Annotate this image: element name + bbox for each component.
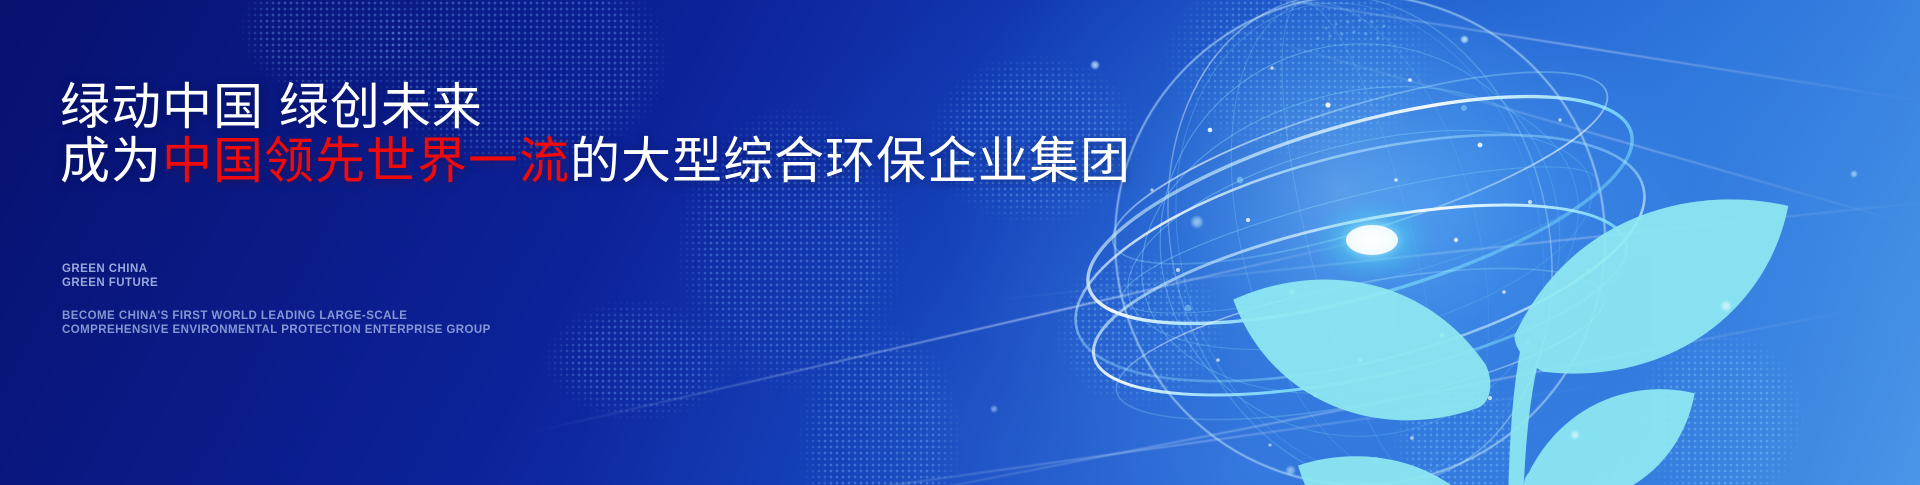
- glow-particle-icon: [1285, 465, 1296, 476]
- tagline-line-1: GREEN CHINA: [62, 262, 158, 276]
- tagline-line-2: GREEN FUTURE: [62, 276, 158, 290]
- glow-particle-icon: [1720, 300, 1732, 312]
- headline-line-2-prefix: 成为: [60, 133, 162, 189]
- sprout-leaf-icon: [1190, 115, 1810, 485]
- subtitle-line-1: BECOME CHINA'S FIRST WORLD LEADING LARGE…: [62, 309, 491, 323]
- banner-copy: 绿动中国 绿创未来 成为中国领先世界一流的大型综合环保企业集团 GREEN CH…: [60, 0, 1060, 485]
- subtitle-line-2: COMPREHENSIVE ENVIRONMENTAL PROTECTION E…: [62, 323, 491, 337]
- headline-line-1: 绿动中国 绿创未来: [60, 78, 483, 136]
- glow-particle-icon: [1570, 430, 1580, 440]
- glow-particle-icon: [1460, 35, 1469, 44]
- light-streak-icon: [1194, 18, 1906, 224]
- light-streak-icon: [1045, 0, 1914, 101]
- light-streak-icon: [983, 200, 1920, 302]
- headline-line-2: 成为中国领先世界一流的大型综合环保企业集团: [60, 132, 1131, 190]
- glow-particle-icon: [1090, 60, 1100, 70]
- subtitle-english: BECOME CHINA'S FIRST WORLD LEADING LARGE…: [62, 309, 491, 337]
- glow-particle-icon: [1850, 170, 1858, 178]
- headline-line-2-highlight: 中国领先世界一流: [162, 133, 570, 189]
- glow-particle-icon: [1190, 215, 1204, 229]
- globe-graphic: [1060, 0, 1680, 485]
- hero-banner: 绿动中国 绿创未来 成为中国领先世界一流的大型综合环保企业集团 GREEN CH…: [0, 0, 1920, 485]
- headline-line-2-suffix: 的大型综合环保企业集团: [570, 133, 1131, 189]
- tagline-english: GREEN CHINA GREEN FUTURE: [62, 262, 158, 290]
